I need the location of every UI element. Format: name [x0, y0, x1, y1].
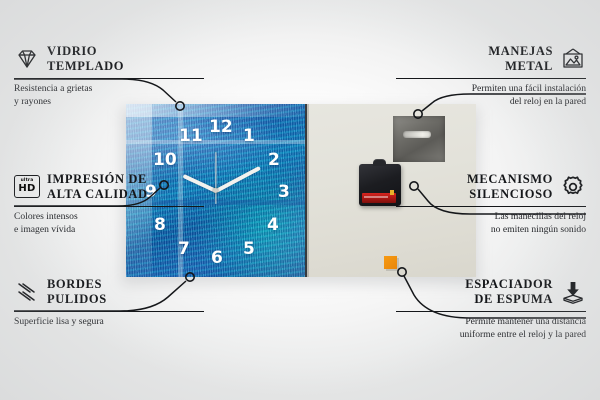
- feature-description: Permiten una fácil instalacióndel reloj …: [396, 83, 586, 108]
- feature-divider: [396, 311, 586, 313]
- clock-numeral-3: 3: [278, 184, 290, 201]
- feature-divider: [396, 206, 586, 208]
- feature-heading: ultra HD IMPRESIÓN DEALTA CALIDAD: [14, 172, 204, 202]
- clock-numeral-7: 7: [178, 241, 190, 258]
- feature-description: Las manecillas del relojno emiten ningún…: [396, 211, 586, 236]
- feature-title: VIDRIOTEMPLADO: [47, 44, 124, 74]
- feature-manejas-metal: MANEJASMETAL Permiten una fácil instalac…: [396, 44, 586, 108]
- feature-espaciador-de-espuma: ESPACIADORDE ESPUMA Permite mantener una…: [396, 277, 586, 341]
- battery: [362, 193, 396, 203]
- ultra-hd-icon: ultra HD: [14, 174, 40, 200]
- feature-divider: [14, 206, 204, 208]
- feature-heading: VIDRIOTEMPLADO: [14, 44, 204, 74]
- feature-heading: ESPACIADORDE ESPUMA: [396, 277, 586, 307]
- gear-icon: [560, 174, 586, 200]
- polished-edges-icon: [14, 279, 40, 305]
- feature-description: Permite mantener una distanciauniforme e…: [396, 316, 586, 341]
- diamond-icon: [14, 46, 40, 72]
- wall-hanging-frame-icon: [560, 46, 586, 72]
- feature-title: IMPRESIÓN DEALTA CALIDAD: [47, 172, 148, 202]
- mechanism-hanger-tab: [373, 159, 386, 166]
- feature-heading: BORDESPULIDOS: [14, 277, 204, 307]
- feature-title: ESPACIADORDE ESPUMA: [465, 277, 553, 307]
- infographic-canvas: 12 1 2 3 4 5 6 7 8 9 10 11: [0, 0, 600, 400]
- feature-description: Superficie lisa y segura: [14, 316, 204, 329]
- clock-second-hand: [215, 152, 216, 204]
- feature-title: MECANISMOSILENCIOSO: [467, 172, 553, 202]
- feature-title: BORDESPULIDOS: [47, 277, 107, 307]
- clock-numeral-6: 6: [211, 250, 223, 267]
- feature-mecanismo-silencioso: MECANISMOSILENCIOSO Las manecillas del r…: [396, 172, 586, 236]
- feature-divider: [396, 78, 586, 80]
- foam-spacer-arrow-icon: [560, 279, 586, 305]
- clock-numeral-12: 12: [209, 119, 233, 136]
- panel-edge: [307, 104, 309, 277]
- clock-numeral-5: 5: [243, 241, 255, 258]
- feature-vidrio-templado: VIDRIOTEMPLADO Resistencia a grietasy ra…: [14, 44, 204, 108]
- clock-numeral-2: 2: [268, 152, 280, 169]
- clock-numeral-11: 11: [179, 128, 203, 145]
- clock-mechanism: [359, 164, 401, 206]
- metal-hanger-plate: [393, 116, 445, 162]
- feature-description: Resistencia a grietasy rayones: [14, 83, 204, 108]
- feature-divider: [14, 311, 204, 313]
- feature-impresion-alta-calidad: ultra HD IMPRESIÓN DEALTA CALIDAD Colore…: [14, 172, 204, 236]
- feature-divider: [14, 78, 204, 80]
- clock-numeral-10: 10: [153, 152, 177, 169]
- clock-numeral-4: 4: [267, 217, 279, 234]
- feature-title: MANEJASMETAL: [488, 44, 553, 74]
- feature-bordes-pulidos: BORDESPULIDOS Superficie lisa y segura: [14, 277, 204, 329]
- clock-center-cap: [213, 188, 218, 193]
- feature-heading: MECANISMOSILENCIOSO: [396, 172, 586, 202]
- feature-heading: MANEJASMETAL: [396, 44, 586, 74]
- foam-spacer: [384, 256, 397, 269]
- feature-description: Colores intensose imagen vívida: [14, 211, 204, 236]
- battery-stripe: [364, 196, 388, 198]
- clock-numeral-1: 1: [243, 128, 255, 145]
